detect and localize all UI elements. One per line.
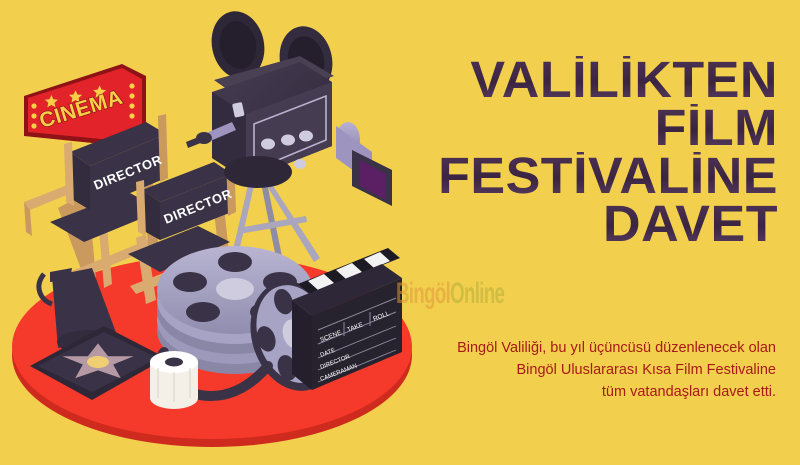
summary-line-2: Bingöl Uluslararası Kısa Film Festivalin… [376,360,776,382]
summary-line-1: Bingöl Valiliği, bu yıl üçüncüsü düzenle… [376,338,776,360]
film-roll [150,351,198,409]
poster-canvas: CINEMA DIRECTOR [0,0,800,465]
headline-line-2: FİLM [350,104,778,152]
headline-line-3: FESTİVALİNE [350,152,778,200]
headline: VALİLİKTEN FİLM FESTİVALİNE DAVET [358,56,778,248]
headline-line-4: DAVET [350,200,778,248]
watermark-part-online: Online [450,277,504,310]
headline-line-1: VALİLİKTEN [350,56,778,104]
summary-text: Bingöl Valiliği, bu yıl üçüncüsü düzenle… [376,338,776,403]
summary-line-3: tüm vatandaşları davet etti. [376,382,776,404]
